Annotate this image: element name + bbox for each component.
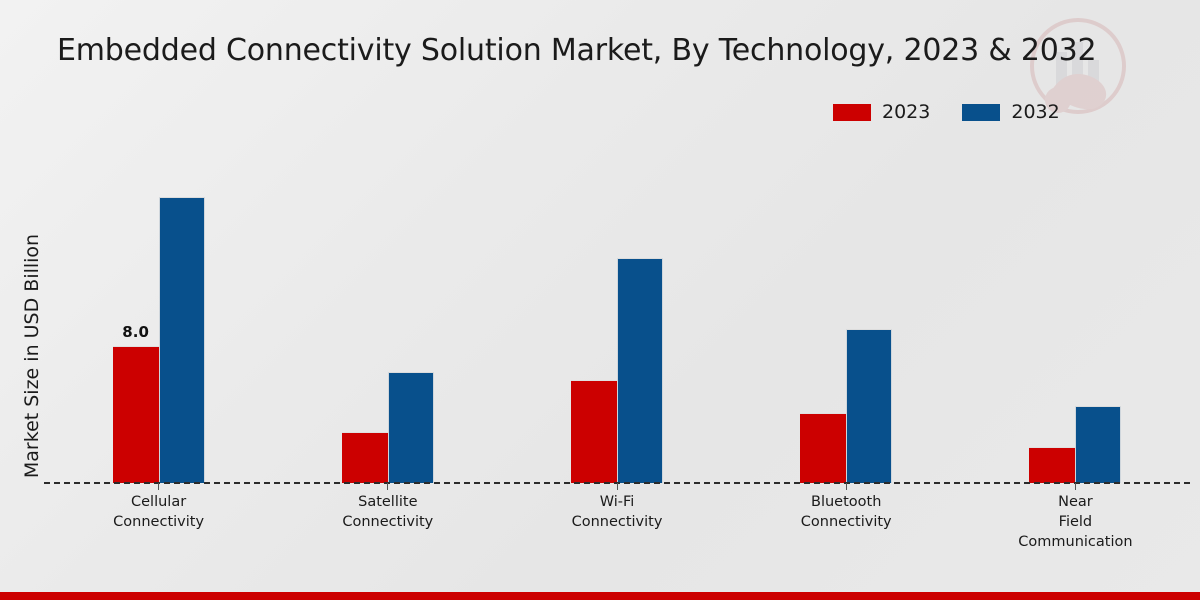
x-tick: CellularConnectivity bbox=[44, 483, 273, 583]
legend-swatch-2032 bbox=[962, 104, 1000, 121]
bar-column bbox=[342, 140, 388, 483]
bar-column: 8.0 bbox=[113, 140, 159, 483]
bar-2032-4[interactable] bbox=[846, 329, 892, 483]
bar-2023-1[interactable] bbox=[113, 346, 159, 483]
bar-column bbox=[846, 140, 892, 483]
bar-pair: 8.0 bbox=[113, 140, 205, 483]
legend-swatch-2023 bbox=[833, 104, 871, 121]
bar-column bbox=[1075, 140, 1121, 483]
bar-column bbox=[800, 140, 846, 483]
bar-column bbox=[1029, 140, 1075, 483]
bar-2023-2[interactable] bbox=[342, 432, 388, 483]
x-tick-label: Wi-FiConnectivity bbox=[572, 492, 663, 532]
chart-page: Embedded Connectivity Solution Market, B… bbox=[0, 0, 1200, 600]
bar-2032-2[interactable] bbox=[388, 372, 434, 483]
bar-groups: 8.0 bbox=[44, 140, 1190, 483]
legend-item-2032[interactable]: 2032 bbox=[962, 103, 1059, 122]
bar-2032-1[interactable] bbox=[159, 197, 205, 483]
bar-column bbox=[159, 140, 205, 483]
x-tick-label: CellularConnectivity bbox=[113, 492, 204, 532]
bar-group bbox=[961, 140, 1190, 483]
tick-mark bbox=[158, 483, 159, 490]
bar-column bbox=[571, 140, 617, 483]
bar-group bbox=[732, 140, 961, 483]
bar-value-label: 8.0 bbox=[122, 323, 149, 341]
bar-group: 8.0 bbox=[44, 140, 273, 483]
bar-2032-5[interactable] bbox=[1075, 406, 1121, 483]
bar-pair bbox=[571, 140, 663, 483]
chart-legend: 2023 2032 bbox=[833, 103, 1060, 122]
bar-group bbox=[273, 140, 502, 483]
bar-pair bbox=[800, 140, 892, 483]
y-axis-title: Market Size in USD Billion bbox=[21, 191, 43, 521]
footer-accent-bar bbox=[0, 592, 1200, 600]
bar-2032-3[interactable] bbox=[617, 258, 663, 483]
tick-mark bbox=[1075, 483, 1076, 490]
legend-label-2032: 2032 bbox=[1011, 103, 1059, 122]
x-tick: Wi-FiConnectivity bbox=[502, 483, 731, 583]
bar-pair bbox=[342, 140, 434, 483]
tick-mark bbox=[617, 483, 618, 490]
bar-2023-4[interactable] bbox=[800, 413, 846, 483]
bar-2023-3[interactable] bbox=[571, 380, 617, 483]
bar-pair bbox=[1029, 140, 1121, 483]
bar-column bbox=[617, 140, 663, 483]
tick-mark bbox=[387, 483, 388, 490]
bar-2023-5[interactable] bbox=[1029, 447, 1075, 483]
legend-item-2023[interactable]: 2023 bbox=[833, 103, 930, 122]
bar-group bbox=[502, 140, 731, 483]
x-axis-tick-labels: CellularConnectivitySatelliteConnectivit… bbox=[44, 483, 1190, 583]
x-tick: NearFieldCommunication bbox=[961, 483, 1190, 583]
x-tick-label: NearFieldCommunication bbox=[1018, 492, 1132, 552]
bar-column bbox=[388, 140, 434, 483]
x-tick-label: SatelliteConnectivity bbox=[342, 492, 433, 532]
x-tick: BluetoothConnectivity bbox=[732, 483, 961, 583]
x-tick-label: BluetoothConnectivity bbox=[801, 492, 892, 532]
chart-title: Embedded Connectivity Solution Market, B… bbox=[57, 33, 1096, 68]
legend-label-2023: 2023 bbox=[882, 103, 930, 122]
x-tick: SatelliteConnectivity bbox=[273, 483, 502, 583]
tick-mark bbox=[846, 483, 847, 490]
